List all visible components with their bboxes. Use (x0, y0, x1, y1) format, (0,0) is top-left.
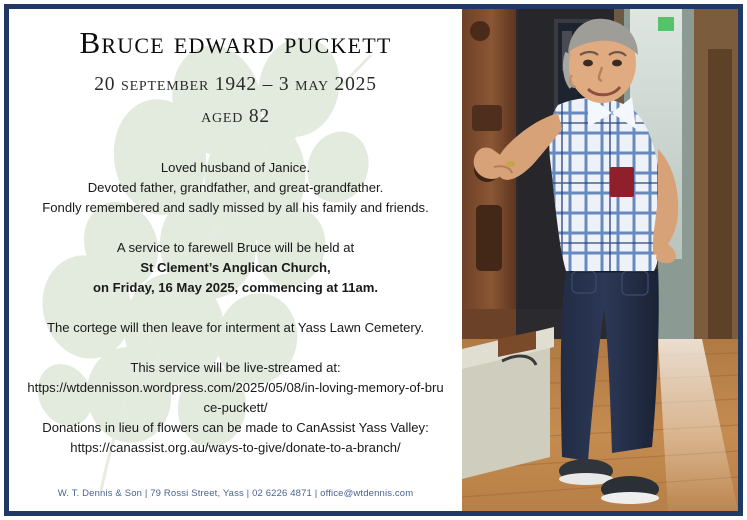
funeral-notice: Bruce Edward Puckett 20 September 1942 –… (0, 0, 747, 520)
service-venue: St Clement’s Anglican Church, (25, 258, 446, 278)
livestream-intro: This service will be live-streamed at: (25, 358, 446, 378)
donations-intro: Donations in lieu of flowers can be made… (25, 418, 446, 438)
funeral-home-footer: W. T. Dennis & Son | 79 Rossi Street, Ya… (9, 488, 462, 499)
spacer (25, 338, 446, 358)
tribute-line-2: Devoted father, grandfather, and great-g… (25, 178, 446, 198)
panel-content: Bruce Edward Puckett 20 September 1942 –… (9, 9, 462, 511)
tribute-line-1: Loved husband of Janice. (25, 158, 446, 178)
service-intro: A service to farewell Bruce will be held… (25, 238, 446, 258)
donations-url[interactable]: https://canassist.org.au/ways-to-give/do… (25, 438, 446, 458)
interment-line: The cortege will then leave for intermen… (25, 318, 446, 338)
notice-frame: Bruce Edward Puckett 20 September 1942 –… (4, 4, 743, 516)
spacer (25, 218, 446, 238)
portrait-photo (462, 9, 738, 511)
livestream-url[interactable]: https://wtdennisson.wordpress.com/2025/0… (25, 378, 446, 418)
text-panel: Bruce Edward Puckett 20 September 1942 –… (9, 9, 462, 511)
spacer (25, 298, 446, 318)
page-title: Bruce Edward Puckett (25, 25, 446, 61)
notice-body: Loved husband of Janice. Devoted father,… (25, 158, 446, 458)
age-line: Aged 82 (25, 106, 446, 128)
tribute-line-3: Fondly remembered and sadly missed by al… (25, 198, 446, 218)
service-datetime: on Friday, 16 May 2025, commencing at 11… (25, 278, 446, 298)
life-dates: 20 September 1942 – 3 May 2025 (25, 74, 446, 96)
